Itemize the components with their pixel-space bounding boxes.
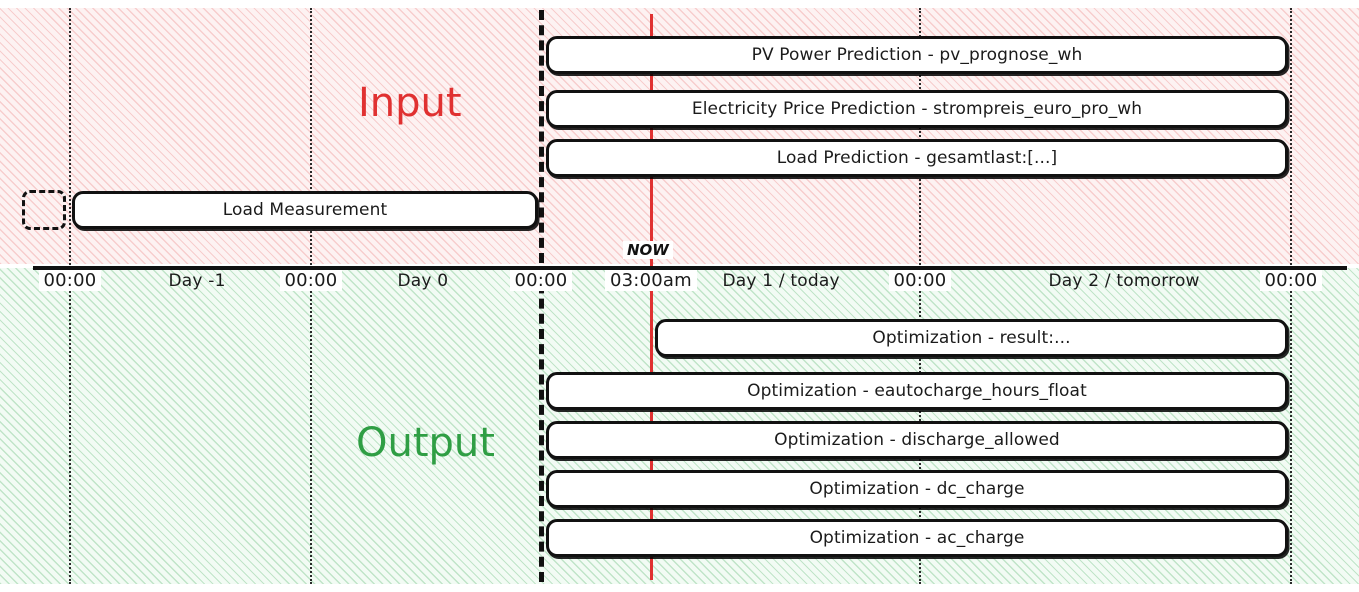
axis-day-label: Day 1 / today xyxy=(718,271,845,291)
axis-day-label: Day 0 xyxy=(393,271,454,291)
axis-tick-label: 00:00 xyxy=(889,270,952,291)
input-bar[interactable]: Load Prediction - gesamtlast:[...] xyxy=(546,139,1288,177)
output-bar[interactable]: Optimization - discharge_allowed xyxy=(546,421,1288,459)
input-bar[interactable]: Electricity Price Prediction - stromprei… xyxy=(546,90,1288,128)
output-bar-label: Optimization - ac_charge xyxy=(810,528,1025,548)
output-bar-label: Optimization - eautocharge_hours_float xyxy=(747,381,1087,401)
axis-tick-label: 03:00am xyxy=(605,270,697,291)
axis-day-label: Day 2 / tomorrow xyxy=(1044,271,1205,291)
timeline-diagram: Input Output NOW PV Power Prediction - p… xyxy=(0,0,1359,592)
output-bar[interactable]: Optimization - result:... xyxy=(655,319,1288,357)
input-bar-label: PV Power Prediction - pv_prognose_wh xyxy=(752,45,1083,65)
gridline-1 xyxy=(310,8,312,584)
input-bar-label: Load Measurement xyxy=(223,200,388,220)
axis-tick-label: 00:00 xyxy=(39,270,102,291)
output-bar-label: Optimization - result:... xyxy=(872,328,1070,348)
output-bar[interactable]: Optimization - eautocharge_hours_float xyxy=(546,372,1288,410)
output-bar-label: Optimization - dc_charge xyxy=(809,479,1024,499)
load-measurement-continuation-stub xyxy=(22,190,66,230)
input-bar[interactable]: Load Measurement xyxy=(72,191,538,229)
input-bar-label: Electricity Price Prediction - stromprei… xyxy=(692,99,1142,119)
now-caption: NOW xyxy=(623,241,673,259)
day-boundary-dashed-line xyxy=(539,10,544,582)
output-bar-label: Optimization - discharge_allowed xyxy=(774,430,1060,450)
output-bar[interactable]: Optimization - ac_charge xyxy=(546,519,1288,557)
axis-tick-label: 00:00 xyxy=(1260,270,1323,291)
axis-tick-label: 00:00 xyxy=(280,270,343,291)
axis-day-label: Day -1 xyxy=(164,271,231,291)
output-section-title: Output xyxy=(356,420,495,466)
output-bar[interactable]: Optimization - dc_charge xyxy=(546,470,1288,508)
axis-tick-label: 00:00 xyxy=(510,270,573,291)
input-bar-label: Load Prediction - gesamtlast:[...] xyxy=(777,148,1058,168)
input-bar[interactable]: PV Power Prediction - pv_prognose_wh xyxy=(546,36,1288,74)
gridline-0 xyxy=(69,8,71,584)
input-section-title: Input xyxy=(358,80,462,126)
gridline-3 xyxy=(1290,8,1292,584)
